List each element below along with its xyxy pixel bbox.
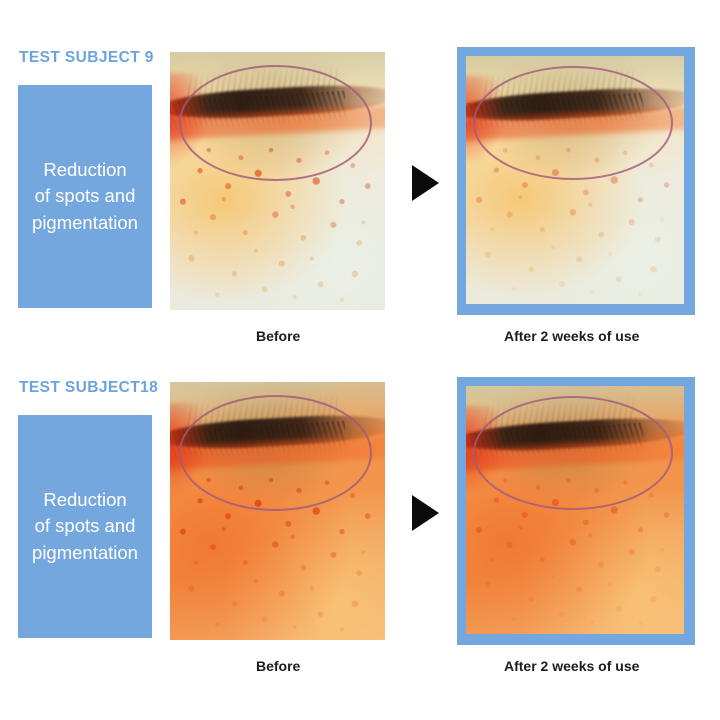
claim-line: pigmentation: [32, 540, 138, 566]
before-photo-1: [170, 52, 385, 310]
after-photo-frame-1: [457, 47, 695, 315]
before-photo-2: [170, 382, 385, 640]
claim-line: pigmentation: [32, 210, 138, 236]
ellipse-highlight-annotation: [473, 66, 674, 180]
caption-after-2: After 2 weeks of use: [504, 658, 639, 674]
subject-label-1: TEST SUBJECT 9: [19, 49, 154, 67]
arrow-right-icon: [412, 495, 439, 531]
claim-box-2: Reduction of spots and pigmentation: [18, 415, 152, 638]
caption-before-1: Before: [256, 328, 300, 344]
claim-line: Reduction: [32, 487, 138, 513]
claim-text-1: Reduction of spots and pigmentation: [26, 157, 144, 236]
subject-label-2: TEST SUBJECT18: [19, 379, 158, 397]
claim-line: Reduction: [32, 157, 138, 183]
claim-line: of spots and: [32, 513, 138, 539]
after-photo-2: [466, 386, 684, 634]
caption-after-1: After 2 weeks of use: [504, 328, 639, 344]
arrow-right-icon: [412, 165, 439, 201]
claim-line: of spots and: [32, 183, 138, 209]
comparison-page: TEST SUBJECT 9 Reduction of spots and pi…: [0, 0, 720, 720]
after-photo-1: [466, 56, 684, 304]
claim-text-2: Reduction of spots and pigmentation: [26, 487, 144, 566]
ellipse-highlight-annotation: [179, 395, 373, 511]
ellipse-highlight-annotation: [179, 65, 373, 181]
caption-before-2: Before: [256, 658, 300, 674]
ellipse-highlight-annotation: [473, 396, 674, 510]
claim-box-1: Reduction of spots and pigmentation: [18, 85, 152, 308]
after-photo-frame-2: [457, 377, 695, 645]
